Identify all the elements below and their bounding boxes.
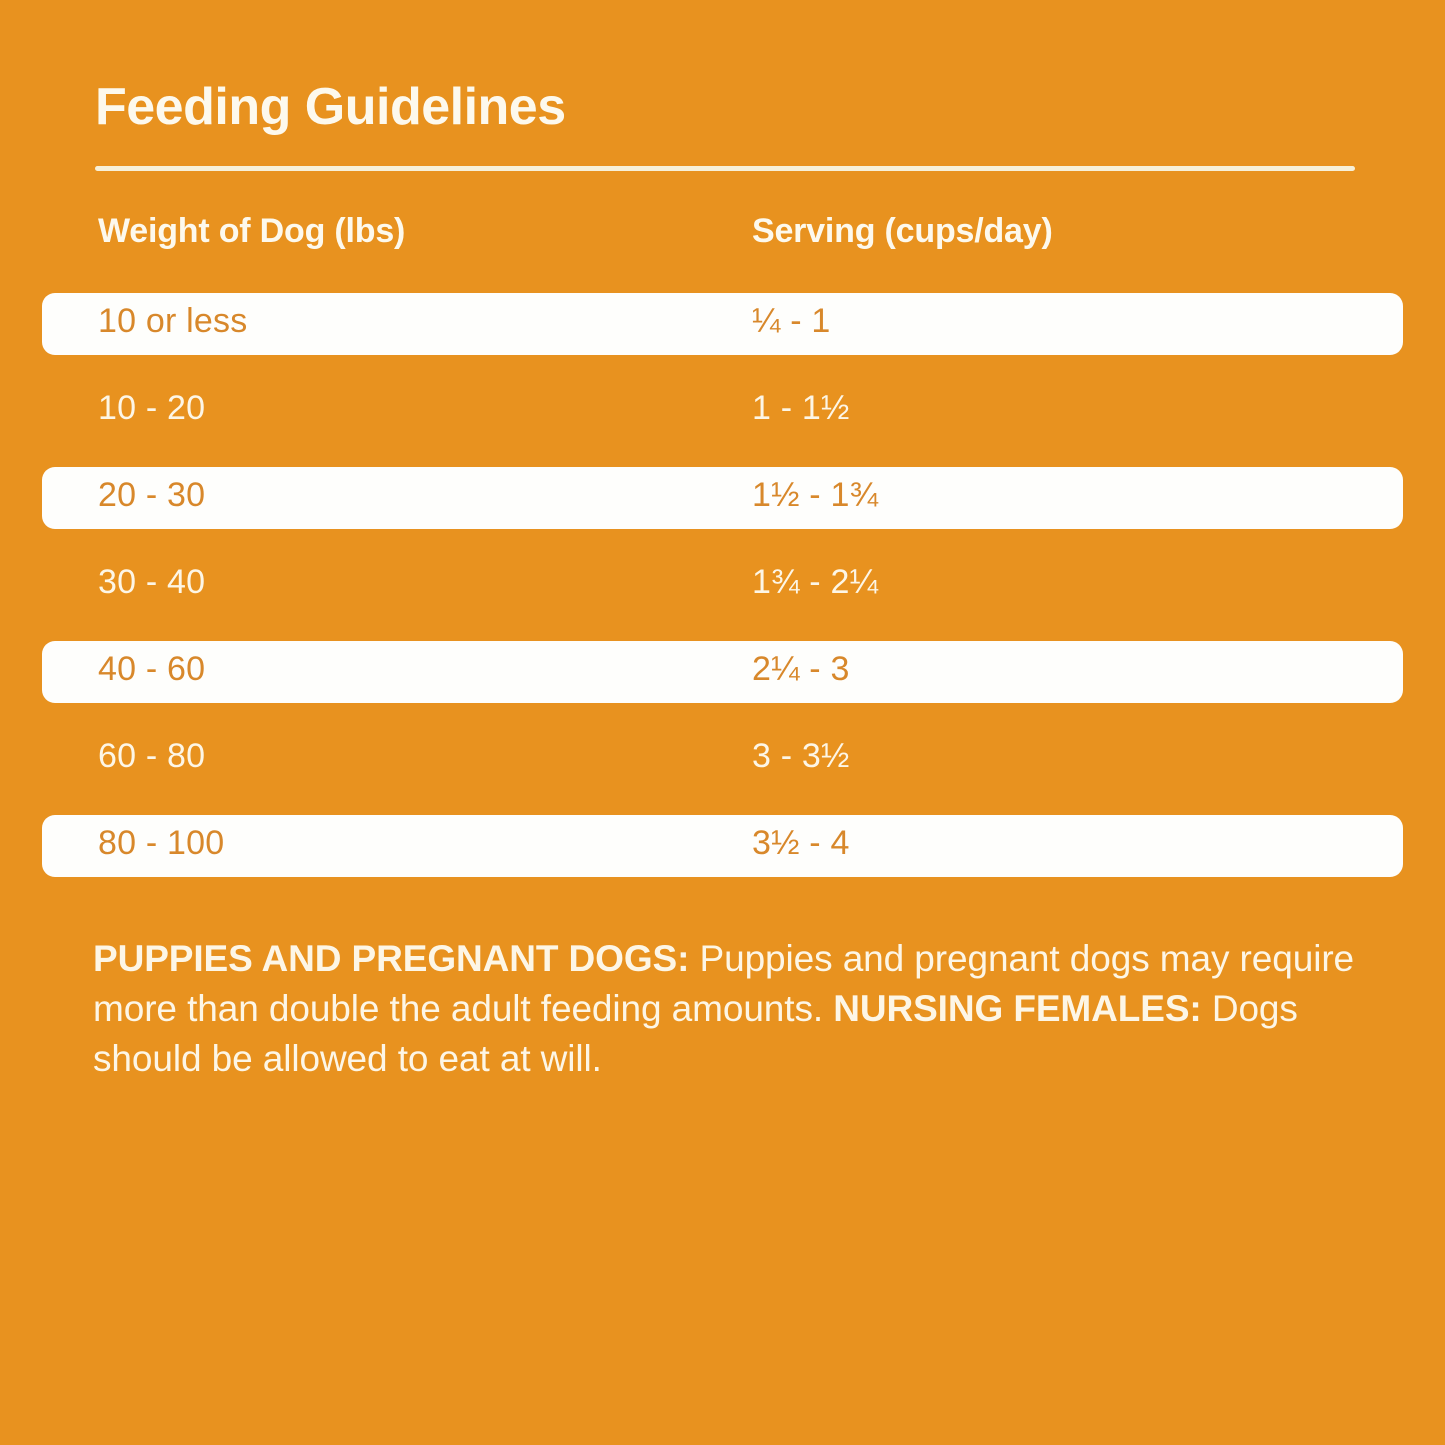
row-background [42, 641, 1403, 703]
table-row: 80 - 100 3½ - 4 [0, 815, 1445, 902]
table-row: 40 - 60 2¼ - 3 [0, 641, 1445, 728]
row-background [42, 815, 1403, 877]
row-background [42, 467, 1403, 529]
cell-weight: 60 - 80 [98, 737, 205, 776]
cell-serving: 3½ - 4 [752, 824, 850, 863]
note-nursing-label: NURSING FEMALES: [833, 988, 1201, 1029]
table-row: 10 - 20 1 - 1½ [0, 380, 1445, 467]
cell-weight: 10 or less [98, 302, 247, 341]
table-row: 30 - 40 1¾ - 2¼ [0, 554, 1445, 641]
table-body: 10 or less ¼ - 1 10 - 20 1 - 1½ 20 - 30 … [0, 293, 1445, 902]
table-row: 10 or less ¼ - 1 [0, 293, 1445, 380]
row-background [42, 380, 1403, 442]
note-puppies-label: PUPPIES AND PREGNANT DOGS: [93, 938, 689, 979]
cell-weight: 10 - 20 [98, 389, 205, 428]
column-header-weight: Weight of Dog (lbs) [98, 212, 405, 251]
cell-weight: 80 - 100 [98, 824, 224, 863]
table-row: 20 - 30 1½ - 1¾ [0, 467, 1445, 554]
title-divider [95, 166, 1355, 171]
cell-serving: 1½ - 1¾ [752, 476, 878, 515]
table-header-row: Weight of Dog (lbs) Serving (cups/day) [0, 206, 1445, 293]
row-background [42, 728, 1403, 790]
cell-serving: ¼ - 1 [752, 302, 830, 341]
table-row: 60 - 80 3 - 3½ [0, 728, 1445, 815]
cell-serving: 1 - 1½ [752, 389, 850, 428]
cell-weight: 30 - 40 [98, 563, 205, 602]
cell-serving: 2¼ - 3 [752, 650, 850, 689]
cell-serving: 3 - 3½ [752, 737, 850, 776]
feeding-table: Weight of Dog (lbs) Serving (cups/day) 1… [0, 206, 1445, 902]
feeding-guidelines-panel: Feeding Guidelines Weight of Dog (lbs) S… [0, 0, 1445, 1445]
column-header-serving: Serving (cups/day) [752, 212, 1053, 251]
cell-weight: 40 - 60 [98, 650, 205, 689]
page-title: Feeding Guidelines [95, 78, 566, 138]
feeding-note: PUPPIES AND PREGNANT DOGS: Puppies and p… [93, 934, 1383, 1084]
cell-weight: 20 - 30 [98, 476, 205, 515]
row-background [42, 554, 1403, 616]
cell-serving: 1¾ - 2¼ [752, 563, 878, 602]
